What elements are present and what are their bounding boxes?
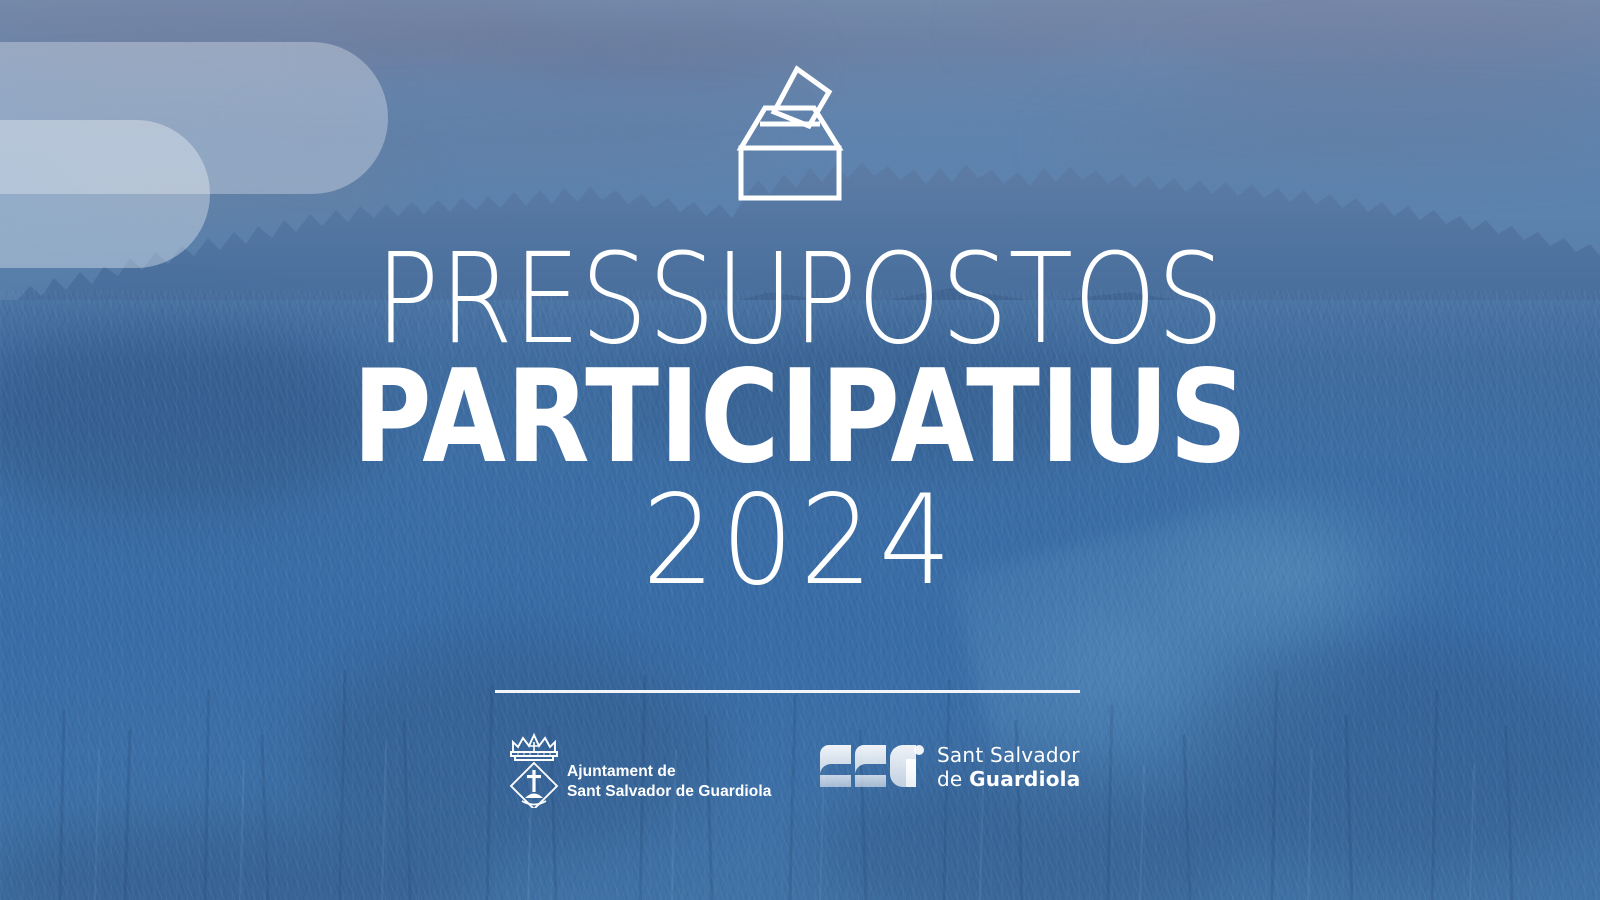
ssg-line-2-bold: Guardiola [969, 767, 1080, 791]
ssg-line-2: de Guardiola [937, 767, 1081, 791]
ajuntament-logo: Ajuntament de Sant Salvador de Guardiola [505, 730, 765, 810]
ssg-line-1: Sant Salvador [937, 743, 1081, 767]
ballot-box-icon [735, 62, 845, 202]
poster-content: PRESSUPOSTOS PARTICIPATIUS 2024 [0, 0, 1600, 900]
ssg-monogram-icon [820, 745, 924, 787]
ajuntament-logo-text: Ajuntament de Sant Salvador de Guardiola [567, 762, 771, 802]
ajuntament-line-1: Ajuntament de [567, 762, 771, 782]
poster-canvas: PRESSUPOSTOS PARTICIPATIUS 2024 [0, 0, 1600, 900]
ssg-logo: Sant Salvador de Guardiola [820, 742, 1070, 798]
crown-and-diamond-crest-icon [505, 730, 563, 808]
ssg-logo-text: Sant Salvador de Guardiola [937, 743, 1081, 792]
logo-row: Ajuntament de Sant Salvador de Guardiola [0, 722, 1600, 822]
ajuntament-line-2: Sant Salvador de Guardiola [567, 782, 771, 802]
title-line-participatius: PARTICIPATIUS [124, 354, 1476, 482]
divider-rule [495, 690, 1080, 693]
title-line-pressupostos: PRESSUPOSTOS [124, 240, 1476, 360]
ssg-line-2-light: de [937, 767, 969, 791]
page-title: PRESSUPOSTOS PARTICIPATIUS 2024 [0, 240, 1600, 604]
title-line-year: 2024 [64, 478, 1536, 604]
